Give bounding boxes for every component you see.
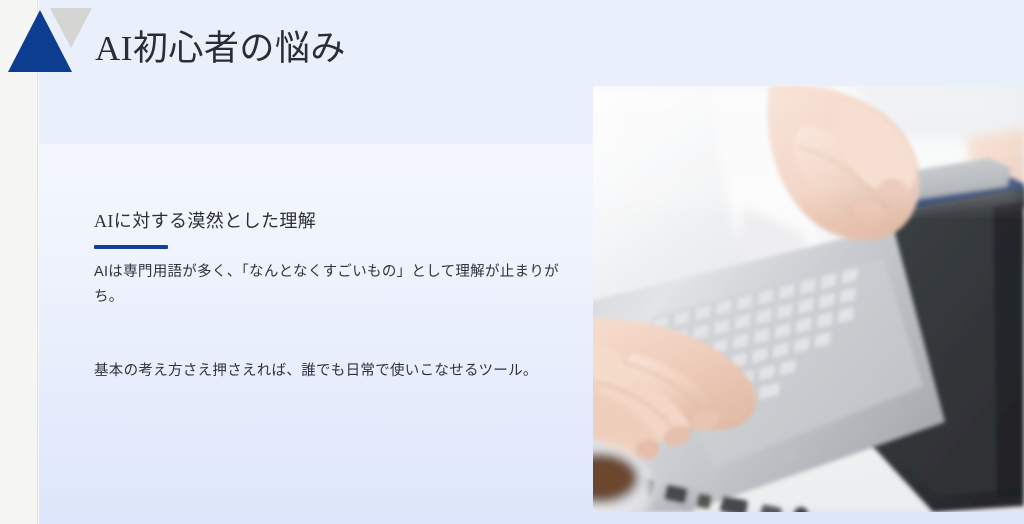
left-rail <box>0 0 38 524</box>
accent-underline-bar <box>94 245 168 249</box>
body-paragraph-2: 基本の考え方さえ押さえれば、誰でも日常で使いこなせるツール。 <box>94 359 559 384</box>
photo-illustration <box>593 86 1024 512</box>
body-paragraph-1: AIは専門用語が多く、「なんとなくすごいもの」として理解が止まりがち。 <box>94 260 559 310</box>
section-heading: AIに対する漠然とした理解 <box>94 208 559 234</box>
page-title: AI初心者の悩み <box>95 25 346 73</box>
hero-photo <box>593 86 1024 512</box>
content-block: AIに対する漠然とした理解 AIは専門用語が多く、「なんとなくすごいもの」として… <box>94 208 559 384</box>
slide-canvas: AI初心者の悩み AIに対する漠然とした理解 AIは専門用語が多く、「なんとなく… <box>0 0 1024 524</box>
triangle-up-icon <box>8 10 72 72</box>
